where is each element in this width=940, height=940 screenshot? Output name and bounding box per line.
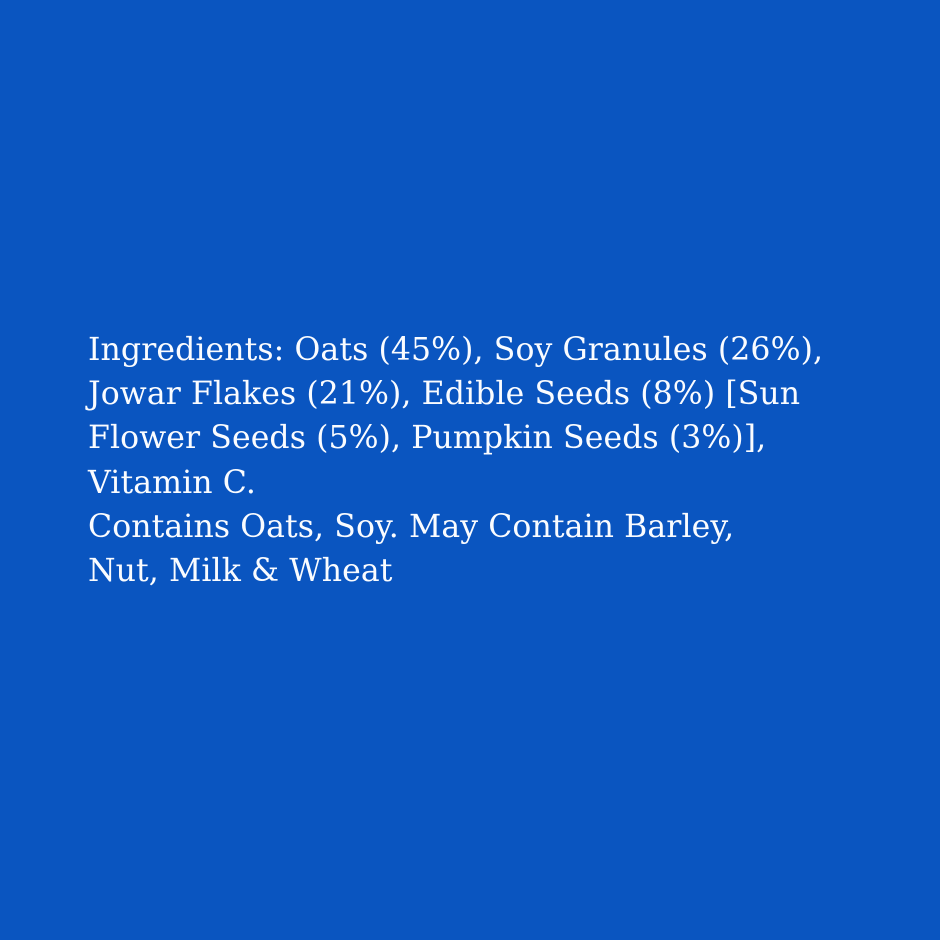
allergen-line-2: Nut, Milk & Wheat xyxy=(88,549,888,593)
ingredients-and-allergen-panel: Ingredients: Oats (45%), Soy Granules (2… xyxy=(0,0,940,940)
ingredients-line-3: Flower Seeds (5%), Pumpkin Seeds (3%)], xyxy=(88,416,888,460)
ingredients-line-4: Vitamin C. xyxy=(88,461,888,505)
ingredients-line-1: Ingredients: Oats (45%), Soy Granules (2… xyxy=(88,328,888,372)
ingredients-paragraph: Ingredients: Oats (45%), Soy Granules (2… xyxy=(88,328,888,505)
allergen-line-1: Contains Oats, Soy. May Contain Barley, xyxy=(88,505,888,549)
ingredients-text-block: Ingredients: Oats (45%), Soy Granules (2… xyxy=(88,328,888,593)
ingredients-line-2: Jowar Flakes (21%), Edible Seeds (8%) [S… xyxy=(88,372,888,416)
allergen-paragraph: Contains Oats, Soy. May Contain Barley, … xyxy=(88,505,888,593)
